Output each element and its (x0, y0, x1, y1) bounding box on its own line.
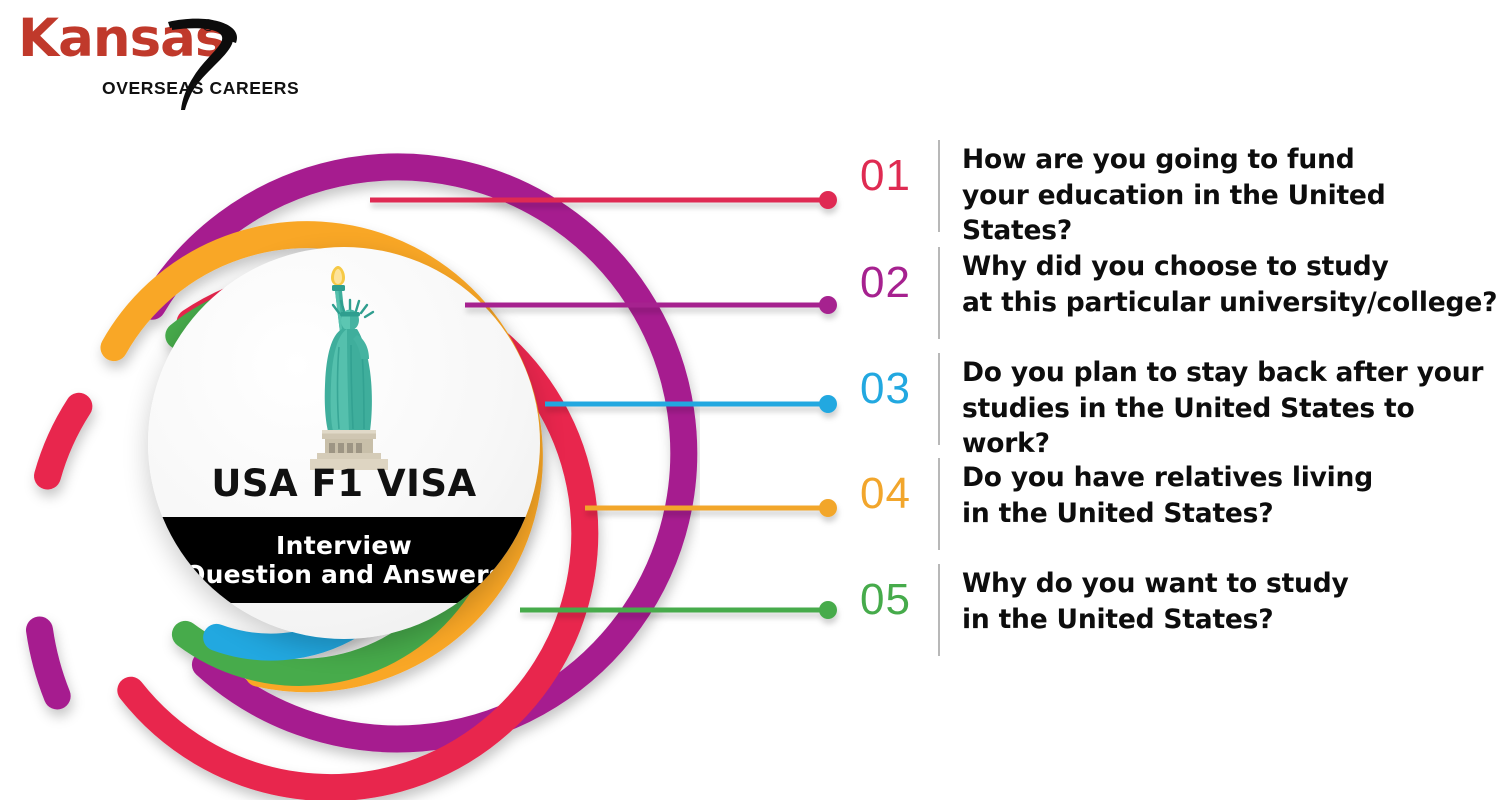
question-item-01[interactable]: 01 How are you going to fund your educat… (860, 140, 1500, 232)
question-item-05[interactable]: 05 Why do you want to study in the Unite… (860, 564, 1349, 656)
registered-trademark-icon: ® (202, 16, 215, 36)
center-disc: USA F1 VISA Interview Question and Answe… (148, 247, 540, 639)
question-text-01: How are you going to fund your education… (962, 140, 1500, 249)
question-item-04[interactable]: 04 Do you have relatives living in the U… (860, 458, 1373, 550)
brand-logo: Kansas ® OVERSEAS CAREERS (18, 10, 308, 105)
connector-dot-04 (819, 499, 837, 517)
question-number-02: 02 (860, 247, 938, 305)
question-text-03: Do you plan to stay back after your stud… (962, 353, 1500, 462)
connector-dot-01 (819, 191, 837, 209)
subtitle-line-2: Question and Answers (184, 560, 504, 590)
question-item-03[interactable]: 03 Do you plan to stay back after your s… (860, 353, 1500, 445)
question-text-02: Why did you choose to study at this part… (962, 247, 1497, 320)
question-item-02[interactable]: 02 Why did you choose to study at this p… (860, 247, 1497, 339)
circular-infographic: USA F1 VISA Interview Question and Answe… (0, 110, 700, 800)
question-text-04: Do you have relatives living in the Unit… (962, 458, 1373, 531)
question-divider-03 (938, 353, 940, 445)
brand-wordmark: Kansas (18, 12, 225, 65)
question-number-04: 04 (860, 458, 938, 516)
question-divider-05 (938, 564, 940, 656)
question-number-01: 01 (860, 140, 938, 198)
subtitle-line-1: Interview (276, 531, 412, 561)
question-text-05: Why do you want to study in the United S… (962, 564, 1349, 637)
page-title: USA F1 VISA (148, 462, 540, 505)
question-number-05: 05 (860, 564, 938, 622)
statue-of-liberty-icon (269, 265, 419, 470)
question-number-03: 03 (860, 353, 938, 411)
connector-dot-02 (819, 296, 837, 314)
connector-dot-05 (819, 601, 837, 619)
question-divider-04 (938, 458, 940, 550)
title-band: Interview Question and Answers (148, 517, 540, 603)
question-divider-01 (938, 140, 940, 232)
brand-tagline: OVERSEAS CAREERS (102, 78, 299, 99)
question-divider-02 (938, 247, 940, 339)
connector-dot-03 (819, 395, 837, 413)
